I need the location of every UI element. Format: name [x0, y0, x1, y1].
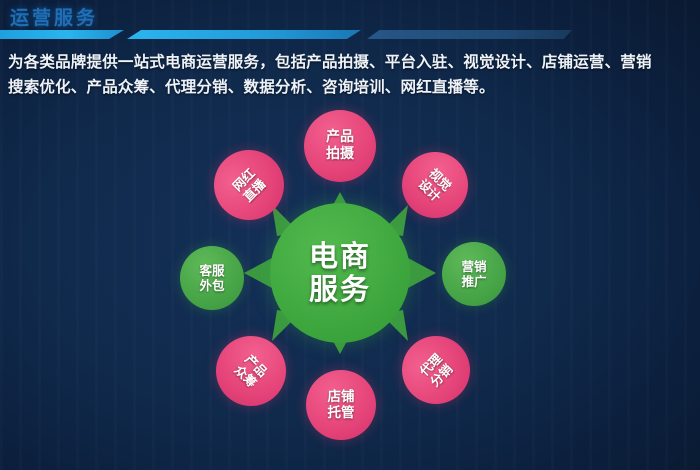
ecommerce-services-diagram: 电商 服务 产品 拍摄 视觉 设计 营销 推广 代理 分销 店铺 托管 产品 众… [160, 108, 520, 470]
arrow-right [408, 258, 436, 288]
diagram-node-customer-service-outsourcing[interactable]: 客服 外包 [180, 246, 244, 310]
node-line2: 推广 [461, 274, 486, 289]
description-text: 为各类品牌提供一站式电商运营服务，包括产品拍摄、平台入驻、视觉设计、店铺运营、营… [8, 50, 700, 100]
diagram-hub-line1: 电商 [309, 240, 371, 273]
node-line1: 营销 [461, 259, 486, 274]
arrow-left [244, 258, 272, 288]
page-title: 运营服务 [10, 3, 98, 30]
diagram-node-product-photography[interactable]: 产品 拍摄 [304, 110, 376, 182]
node-line2: 外包 [199, 278, 224, 293]
header-rule-segment-3 [367, 30, 572, 39]
header-rule-segment-1 [0, 30, 124, 39]
diagram-node-marketing-promotion[interactable]: 营销 推广 [442, 242, 506, 306]
diagram-hub[interactable]: 电商 服务 [270, 203, 410, 343]
diagram-hub-line2: 服务 [309, 273, 371, 306]
node-line1: 店铺 [328, 389, 355, 405]
header-rule-segment-2 [127, 30, 361, 39]
slide-canvas: 运营服务 为各类品牌提供一站式电商运营服务，包括产品拍摄、平台入驻、视觉设计、店… [0, 0, 700, 470]
node-line2: 拍摄 [326, 146, 354, 163]
slide-header: 运营服务 [0, 0, 700, 46]
diagram-node-store-hosting[interactable]: 店铺 托管 [306, 370, 376, 440]
node-line1: 客服 [199, 263, 224, 278]
node-line1: 产品 [326, 129, 354, 146]
node-line2: 托管 [328, 405, 355, 421]
